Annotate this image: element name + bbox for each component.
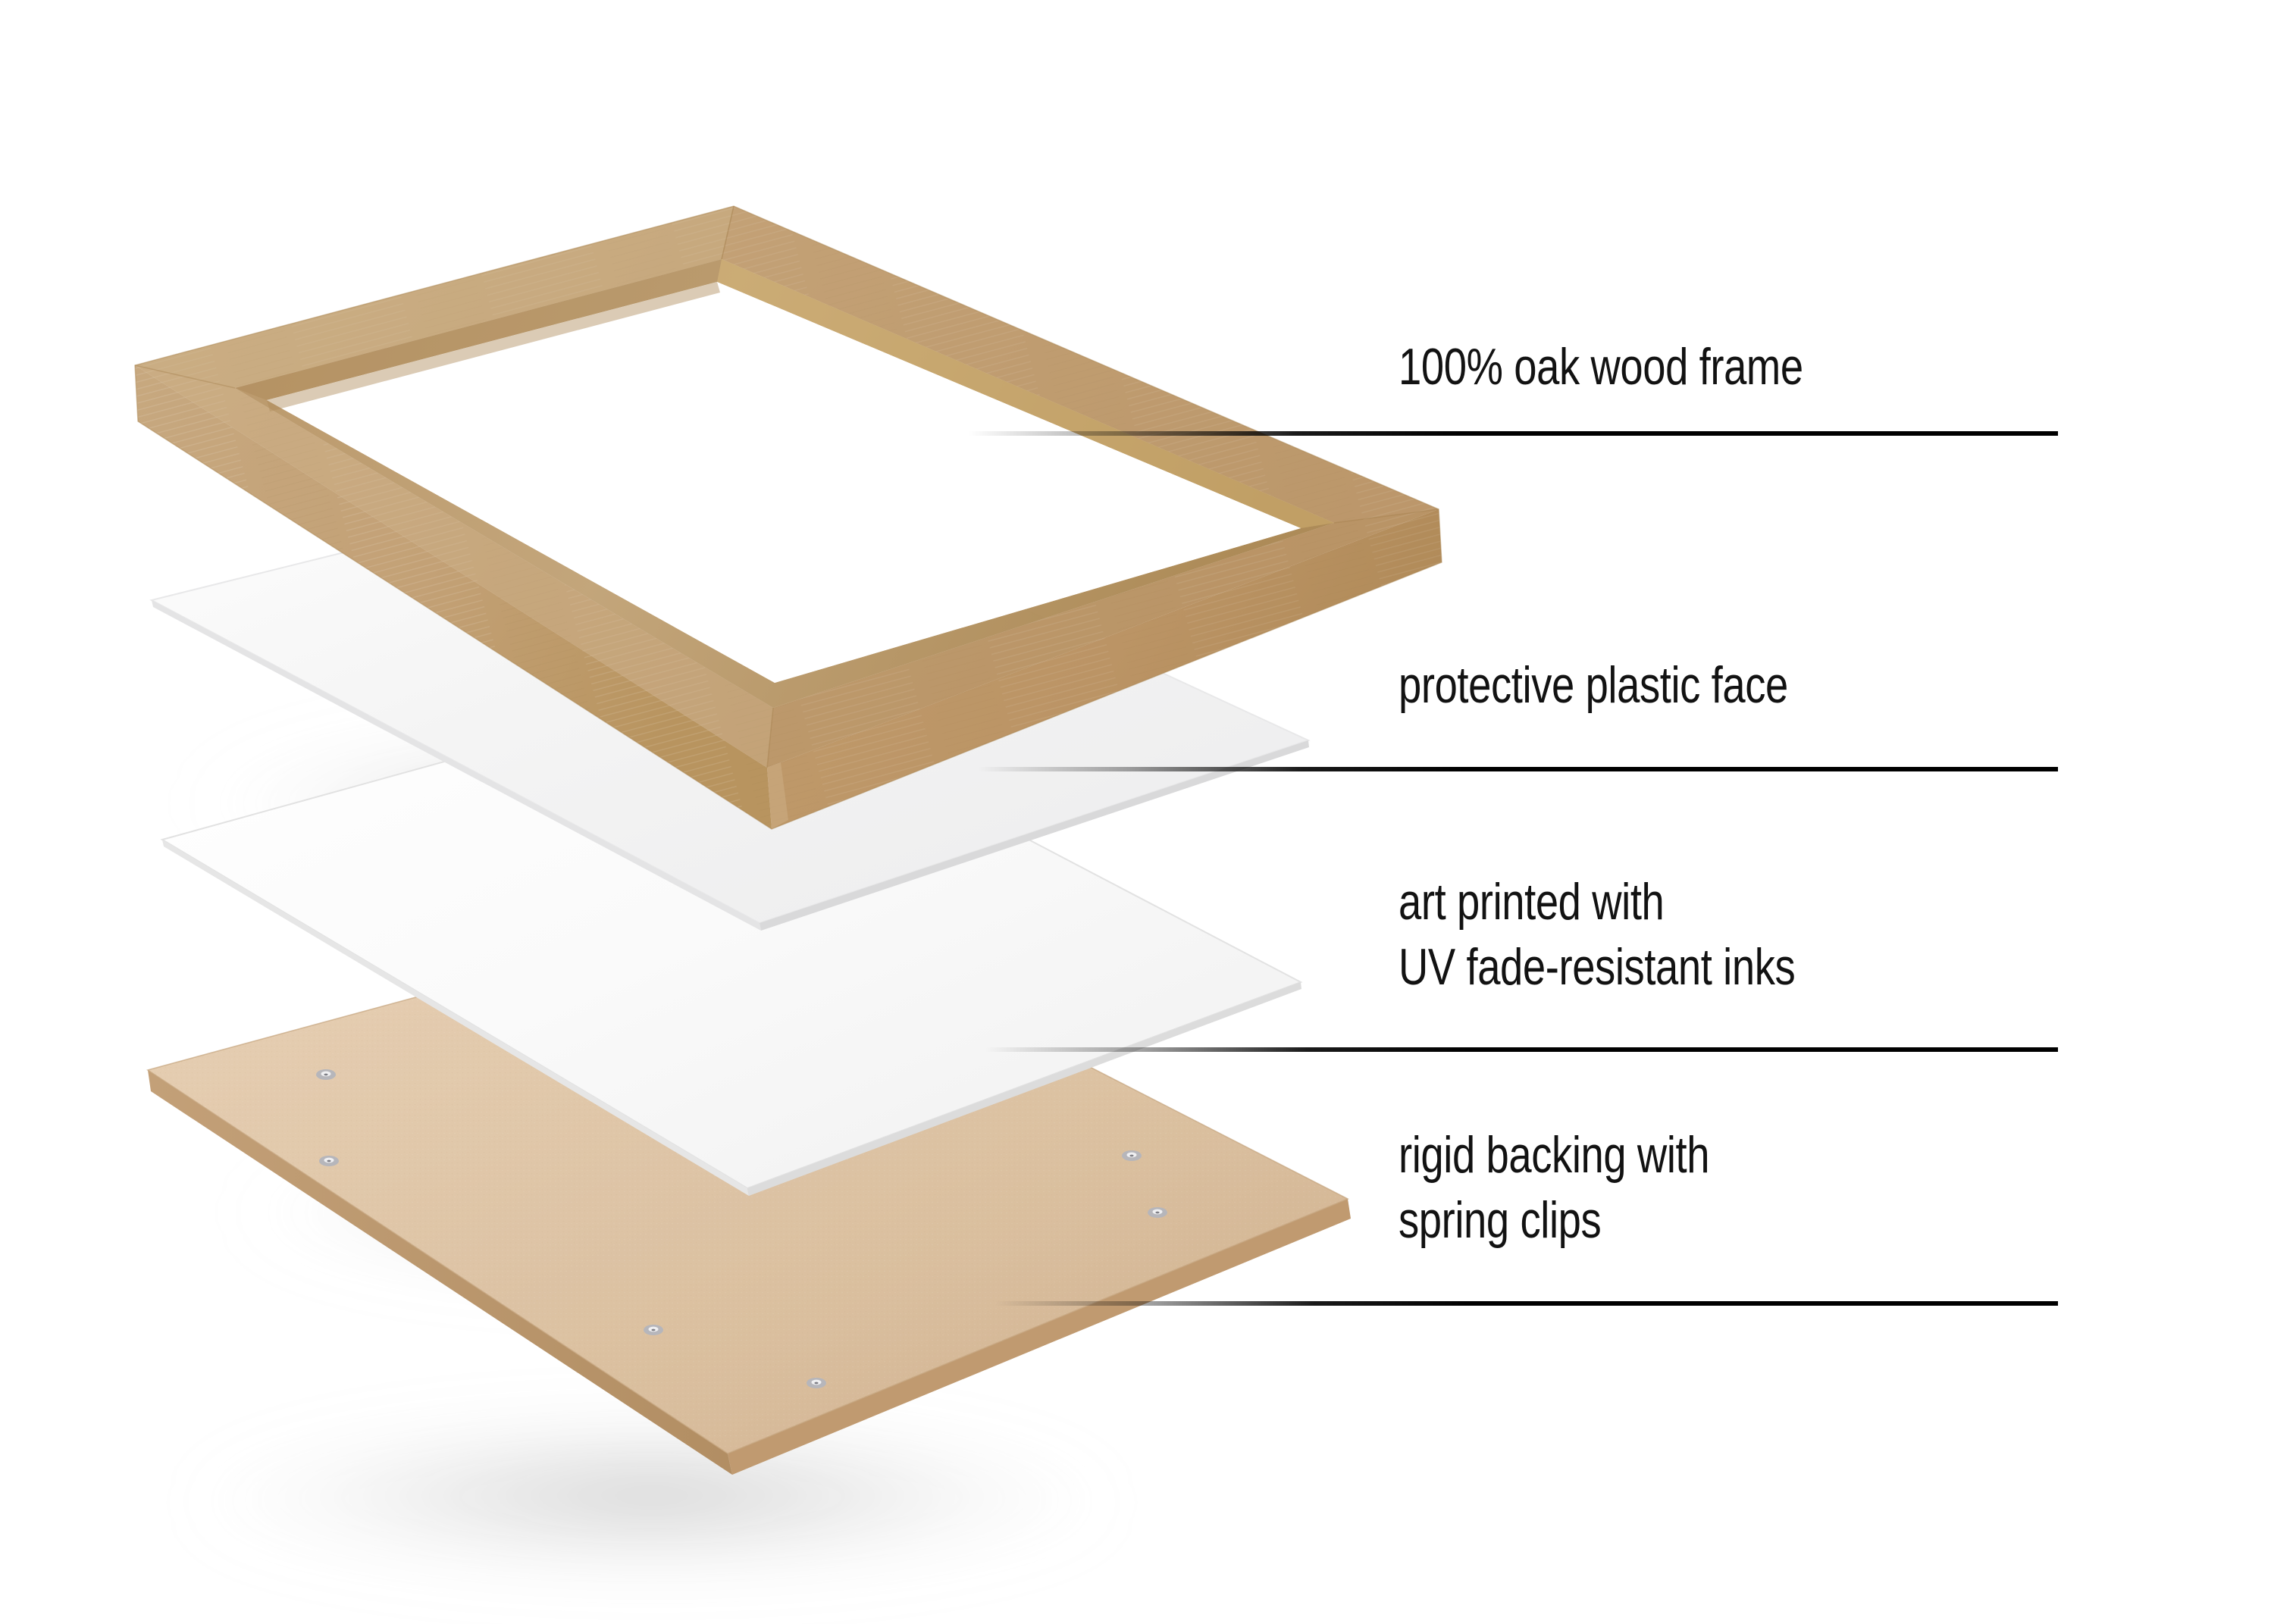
callout-label-plastic: protective plastic face [1399, 653, 1788, 718]
spring-clip [644, 1325, 663, 1335]
spring-clip [1148, 1207, 1167, 1218]
spring-clip [807, 1378, 826, 1388]
callout-label-frame: 100% oak wood frame [1399, 335, 1803, 400]
leader-line-backing [994, 1301, 2058, 1306]
spring-clip [316, 1069, 336, 1080]
figure-root: 100% oak wood frame protective plastic f… [0, 0, 2274, 1624]
callout-label-print: art printed with UV fade-resistant inks [1399, 870, 1795, 1000]
leader-line-print [985, 1047, 2058, 1052]
backing-shadow [197, 1417, 1107, 1591]
exploded-view-illustration [0, 0, 2274, 1624]
leader-line-plastic [978, 767, 2058, 771]
spring-clip [1122, 1150, 1142, 1161]
leader-line-frame [969, 431, 2058, 436]
callout-label-backing: rigid backing with spring clips [1399, 1123, 1709, 1253]
spring-clip [319, 1156, 339, 1166]
